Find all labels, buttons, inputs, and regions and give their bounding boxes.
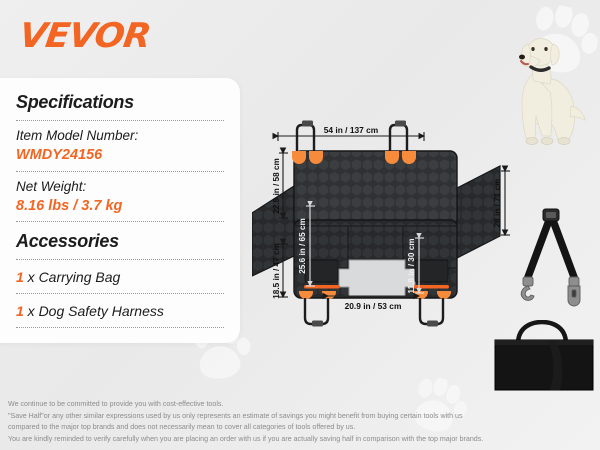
dim-upper-height: 22.8 in / 58 cm xyxy=(272,158,281,214)
accessory-qty: 1 xyxy=(16,269,24,285)
dim-inner-width: 11.8 in / 30 cm xyxy=(407,238,416,293)
accessories-title: Accessories xyxy=(16,231,224,252)
footer-line-1: We continue to be committed to provide y… xyxy=(8,399,598,410)
dog-safety-harness-photo xyxy=(512,205,590,310)
dim-bottom-width: 20.9 in / 53 cm xyxy=(345,301,402,311)
accessory-label: x Carrying Bag xyxy=(24,269,120,285)
product-dimension-diagram: 54 in / 137 cm 22.8 in / 58 cm 18.5 in /… xyxy=(252,108,512,333)
spec-label-model: Item Model Number: xyxy=(16,127,224,145)
dim-lower-height: 18.5 in / 47 cm xyxy=(272,243,281,299)
dim-top-width: 54 in / 137 cm xyxy=(324,125,378,135)
accessory-item-bag: 1 x Carrying Bag xyxy=(16,260,224,293)
spec-value-weight: 8.16 lbs / 3.7 kg xyxy=(16,196,224,216)
spec-label-weight: Net Weight: xyxy=(16,178,224,196)
footer-line-3: compared to the major top brands and doe… xyxy=(8,422,598,433)
accessory-label: x Dog Safety Harness xyxy=(24,303,164,319)
divider xyxy=(16,327,224,328)
dim-side-flap: 28 in / 71 cm xyxy=(493,179,502,228)
carrying-bag-photo xyxy=(492,320,596,392)
dim-inner-depth: 25.6 in / 65 cm xyxy=(298,218,307,274)
spec-value-model: WMDY24156 xyxy=(16,145,224,165)
accessory-qty: 1 xyxy=(16,303,24,319)
dog-photo xyxy=(505,22,597,150)
footer-disclaimer: We continue to be committed to provide y… xyxy=(8,399,598,445)
specifications-card: Specifications Item Model Number: WMDY24… xyxy=(0,78,240,343)
footer-line-4: You are kindly reminded to verify carefu… xyxy=(8,434,598,445)
footer-line-2: "Save Half"or any other similar expressi… xyxy=(8,411,598,422)
specifications-title: Specifications xyxy=(16,92,224,113)
divider xyxy=(16,221,224,222)
spec-row-weight: Net Weight: 8.16 lbs / 3.7 kg xyxy=(16,172,224,222)
accessory-item-harness: 1 x Dog Safety Harness xyxy=(16,294,224,327)
vevor-logo: VEVOR xyxy=(17,16,153,56)
spec-row-model: Item Model Number: WMDY24156 xyxy=(16,121,224,171)
